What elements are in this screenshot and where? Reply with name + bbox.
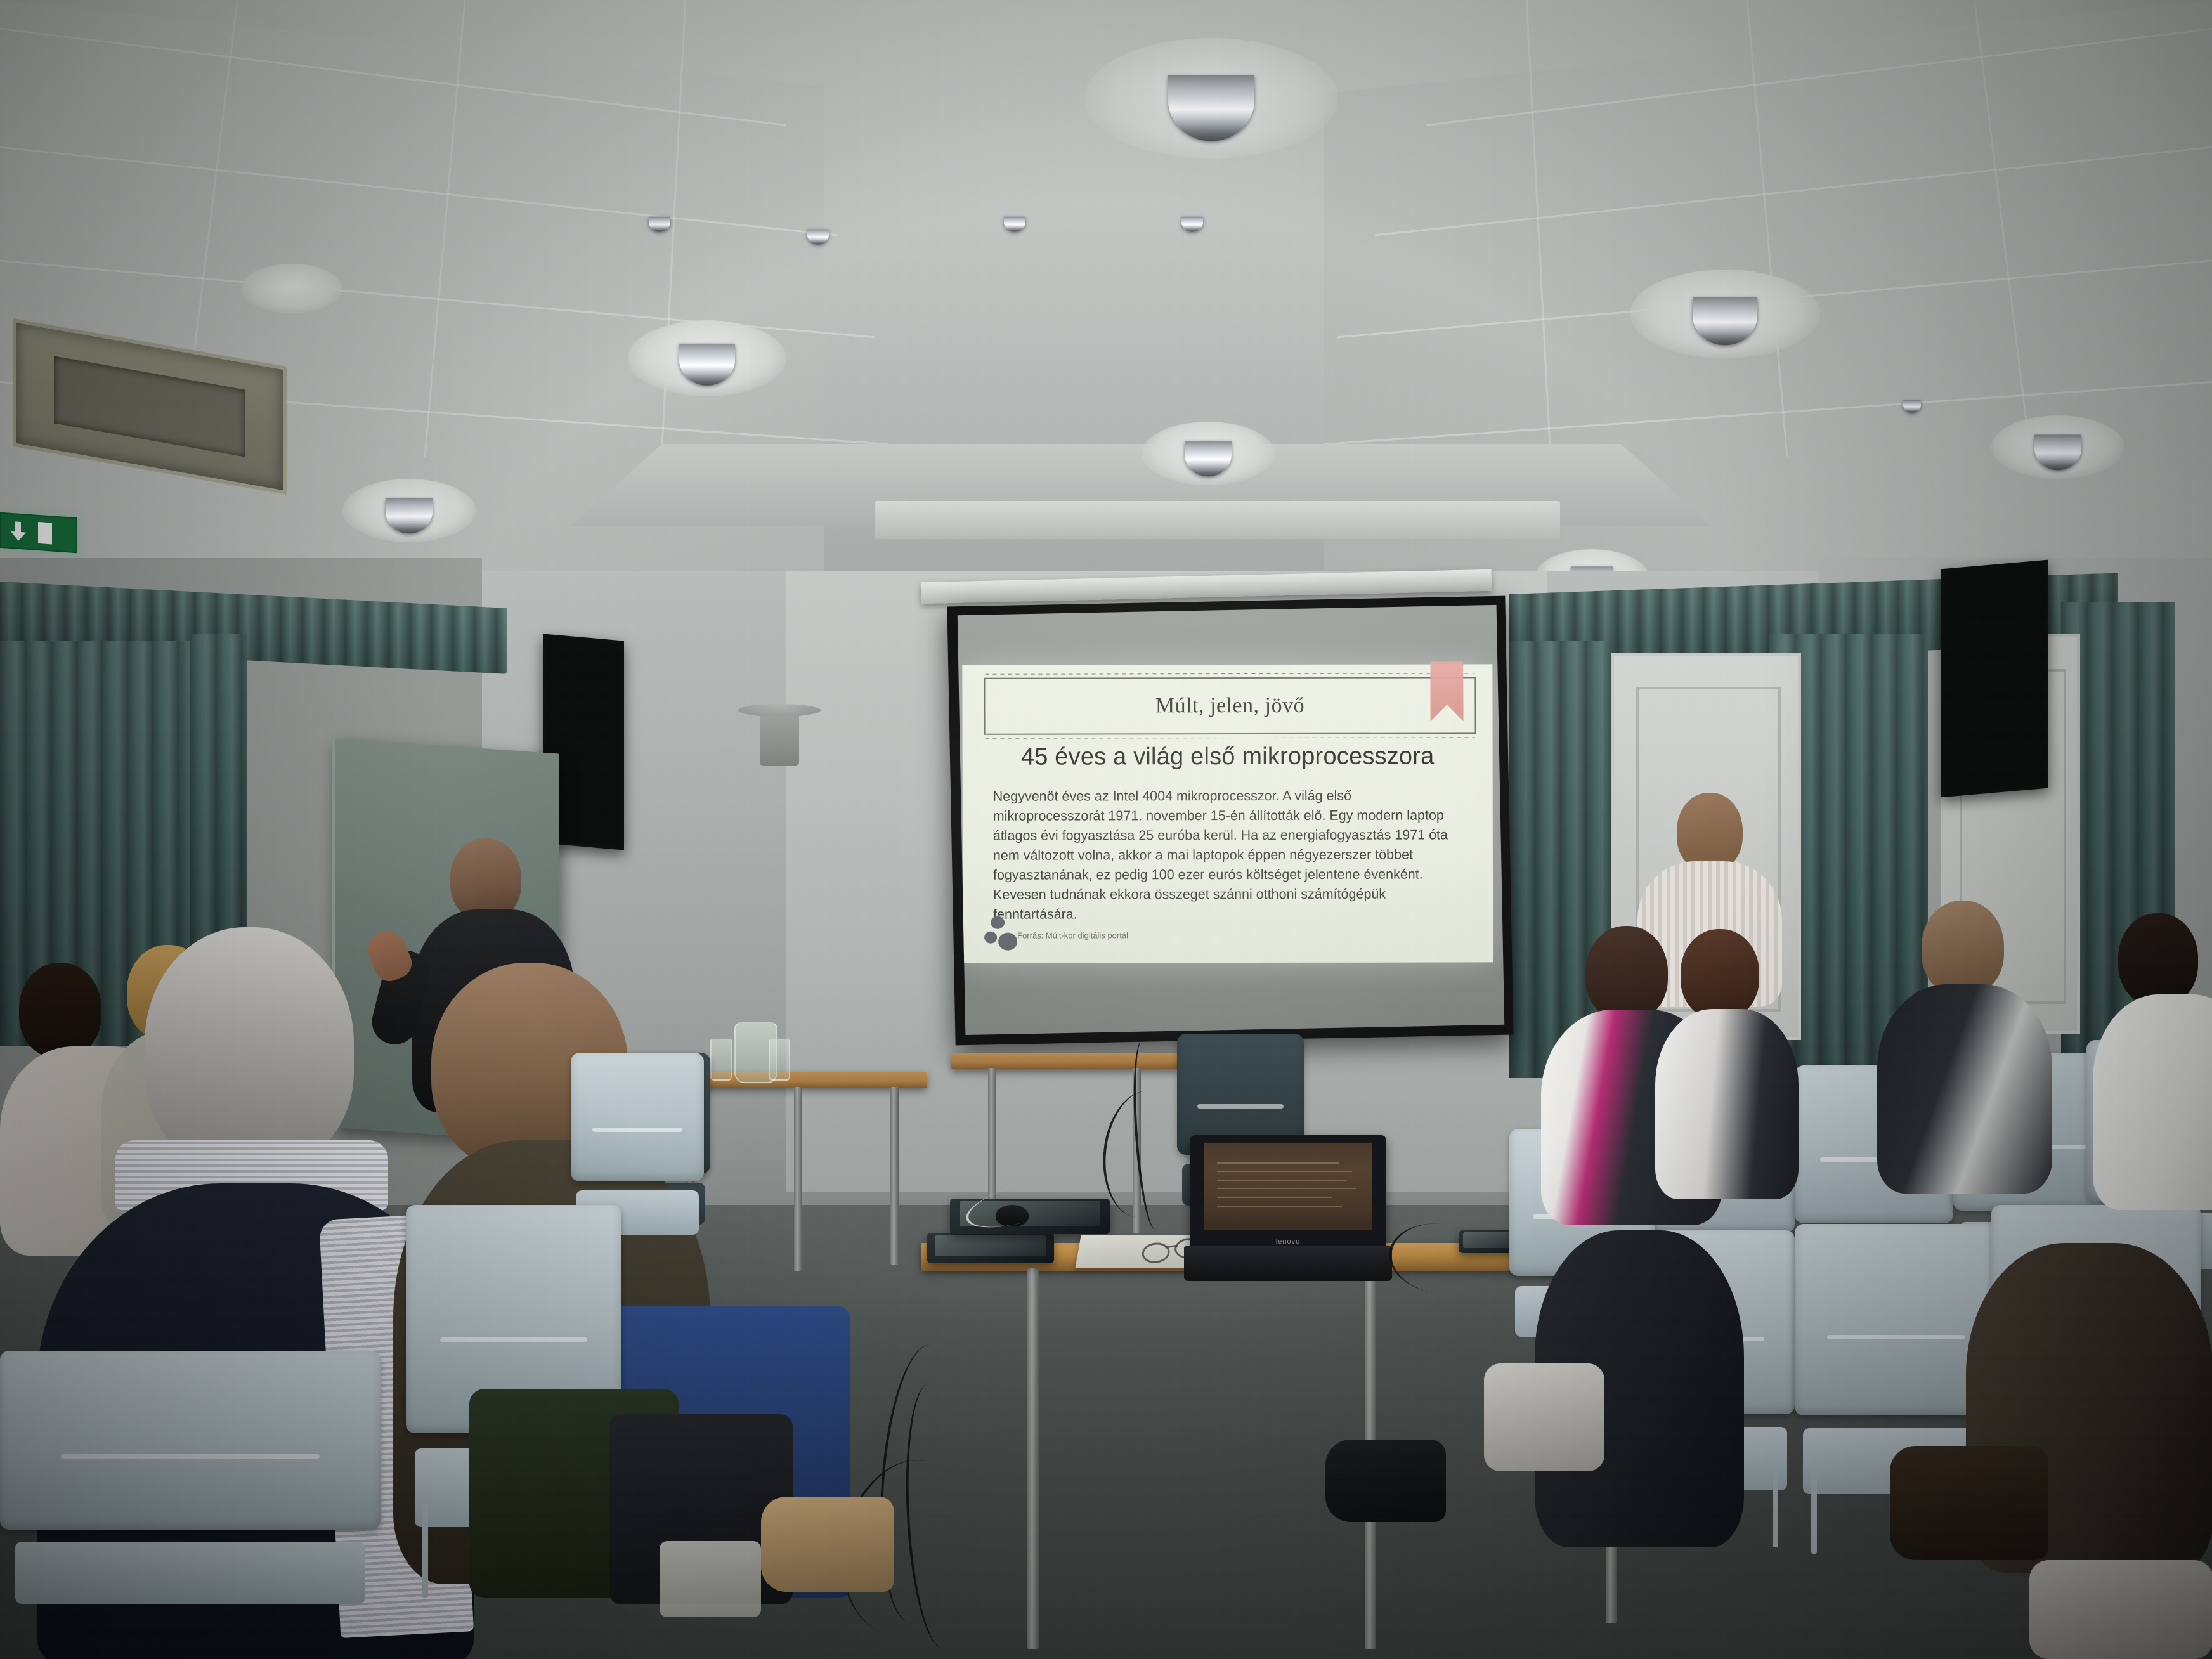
ceiling-spotlight	[1167, 209, 1218, 235]
ceiling-soffit	[875, 501, 1560, 539]
audience-member	[2093, 913, 2212, 1268]
ceiling-spotlight	[1890, 393, 1934, 416]
attendee-head	[145, 927, 354, 1168]
attendee-torso	[2093, 994, 2212, 1210]
table-leg	[1027, 1268, 1039, 1649]
boot	[1890, 1446, 2048, 1560]
slide-body-text: Negyvenöt éves az Intel 4004 mikroproces…	[993, 786, 1465, 924]
laptop[interactable]: lenovo	[1190, 1135, 1386, 1281]
ceiling-spotlight	[793, 222, 843, 247]
slide-logo-icon	[984, 916, 1021, 952]
shoe	[761, 1497, 894, 1592]
ceiling-spotlight	[235, 260, 349, 317]
table-leg	[794, 1087, 802, 1271]
attendee-head	[1681, 929, 1759, 1019]
attendee-head	[1922, 901, 2004, 996]
wall-sconce-light	[760, 712, 799, 766]
projection-screen-surface: Múlt, jelen, jövő 45 éves a világ első m…	[958, 605, 1505, 1035]
attendee-torso	[1877, 984, 2052, 1194]
down-arrow-icon	[8, 520, 29, 543]
ceiling-spotlight	[634, 209, 685, 235]
emergency-exit-sign-icon	[0, 512, 77, 554]
slide-heading: 45 éves a világ első mikroprocesszora	[963, 743, 1493, 771]
ceiling-spotlight	[1135, 419, 1281, 488]
conference-room-photo: Múlt, jelen, jövő 45 éves a világ első m…	[0, 0, 2212, 1659]
attendee-head	[2118, 913, 2198, 1006]
shoe	[2029, 1560, 2212, 1659]
tablet-device[interactable]	[927, 1233, 1054, 1263]
shoe	[1325, 1440, 1446, 1522]
laptop-lid: lenovo	[1190, 1135, 1386, 1249]
presenter-head	[450, 838, 521, 921]
slide-title-box: Múlt, jelen, jövő	[984, 677, 1476, 734]
laptop-brand-label: lenovo	[1276, 1238, 1300, 1246]
wall-speaker	[1941, 560, 2048, 798]
ceiling-spotlight	[1078, 35, 1344, 162]
slide-title: Múlt, jelen, jövő	[985, 693, 1474, 718]
audience-member	[1877, 901, 2055, 1243]
ceiling-spotlight	[621, 317, 793, 400]
laptop-base	[1184, 1246, 1393, 1281]
laptop-screen	[1204, 1143, 1373, 1230]
table-leg	[890, 1087, 899, 1265]
chair[interactable]	[0, 1351, 381, 1659]
projection-screen: Múlt, jelen, jövő 45 éves a világ első m…	[947, 596, 1513, 1046]
door-glyph-icon	[38, 522, 52, 545]
plastic-bag	[660, 1541, 761, 1617]
attendee-torso	[1655, 1009, 1799, 1199]
attendee-leg	[1484, 1363, 1604, 1471]
attendee-head	[1677, 793, 1743, 871]
slide-source-credit: Forrás: Múlt-kor digitális portál	[1017, 930, 1128, 940]
drinking-glass	[769, 1039, 790, 1081]
ceiling-spotlight	[1985, 412, 2131, 482]
presentation-slide: Múlt, jelen, jövő 45 éves a világ első m…	[962, 664, 1493, 963]
ceiling-spotlight	[336, 476, 482, 545]
audience-member	[1655, 929, 1801, 1246]
ceiling-spotlight	[989, 209, 1040, 235]
ceiling-spotlight	[1623, 266, 1826, 361]
